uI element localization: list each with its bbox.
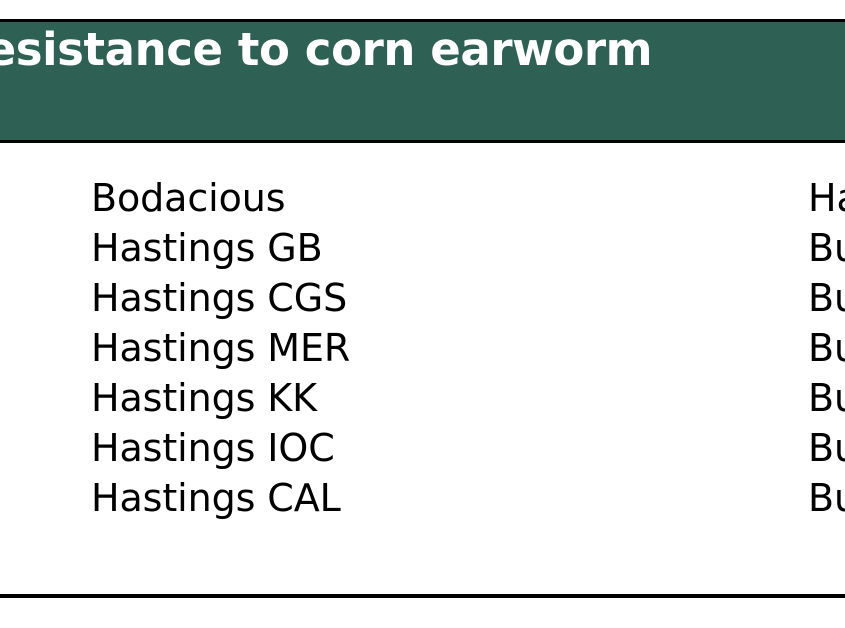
list-item: Bu xyxy=(808,223,845,273)
slide-subtitle: nt, 1994 ) xyxy=(0,80,845,113)
list-item: Bu xyxy=(808,323,845,373)
list-item: Hastings GB xyxy=(91,223,711,273)
slide: ith some resistance to corn earworm nt, … xyxy=(0,0,845,628)
list-item: Hastings KK xyxy=(91,373,711,423)
list-item: Hastings CGS xyxy=(91,273,711,323)
list-item: Bu xyxy=(808,273,845,323)
cultivar-list-left: Bodacious Hastings GB Hastings CGS Hasti… xyxy=(91,173,711,523)
list-item: Hastings CAL xyxy=(91,473,711,523)
title-banner: ith some resistance to corn earworm nt, … xyxy=(0,19,845,143)
cultivar-list-right: Ha Bu Bu Bu Bu Bu Bu xyxy=(808,173,845,523)
bottom-divider xyxy=(0,594,845,598)
list-item: Hastings IOC xyxy=(91,423,711,473)
list-item: Bodacious xyxy=(91,173,711,223)
list-item: Ha xyxy=(808,173,845,223)
slide-body: Bodacious Hastings GB Hastings CGS Hasti… xyxy=(0,143,845,594)
list-item: Bu xyxy=(808,473,845,523)
slide-title: ith some resistance to corn earworm xyxy=(0,27,845,74)
title-banner-inner: ith some resistance to corn earworm nt, … xyxy=(0,22,845,140)
list-item: Hastings MER xyxy=(91,323,711,373)
list-item: Bu xyxy=(808,423,845,473)
list-item: Bu xyxy=(808,373,845,423)
